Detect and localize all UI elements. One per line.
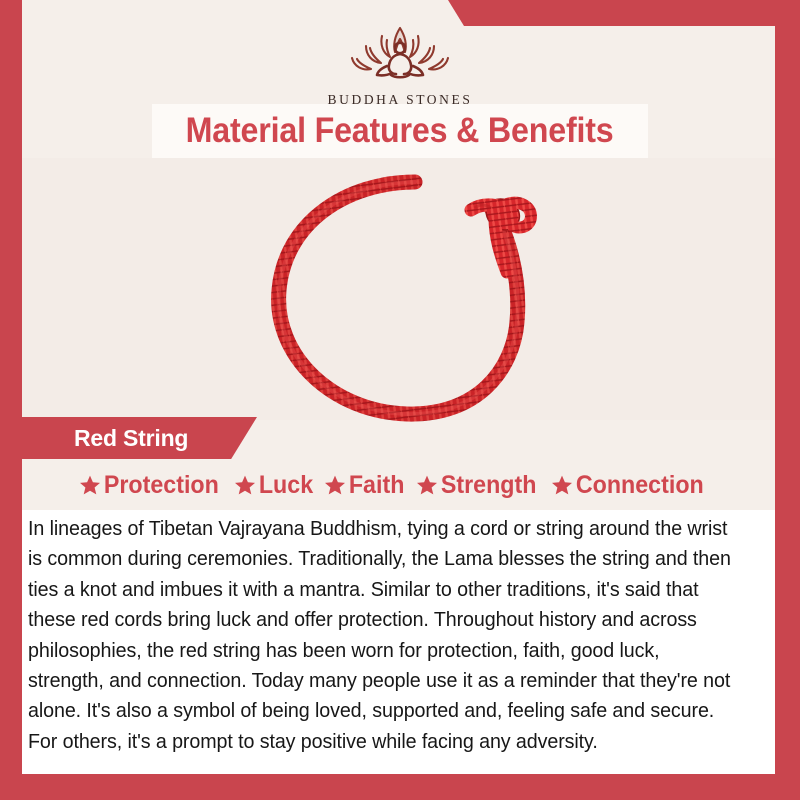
infographic-canvas: BUDDHA STONES Material Features & Benefi…: [0, 0, 800, 800]
brand-logo: BUDDHA STONES: [0, 22, 800, 108]
benefit-label: Faith: [347, 471, 410, 500]
benefit-label: Protection: [102, 471, 224, 500]
benefit-item: Strength: [415, 471, 550, 500]
bottom-red-band: [0, 774, 800, 800]
right-red-band: [775, 0, 800, 800]
lotus-meditation-figure-icon: [325, 22, 475, 88]
product-name-label: Red String: [22, 425, 188, 452]
benefits-row: Protection Luck Faith Strength Connectio: [22, 464, 775, 506]
benefit-item: Protection: [78, 471, 234, 500]
description-panel: In lineages of Tibetan Vajrayana Buddhis…: [22, 510, 775, 774]
page-title: Material Features & Benefits: [186, 111, 614, 151]
title-banner: Material Features & Benefits: [152, 104, 648, 158]
benefit-item: Connection: [550, 471, 720, 500]
product-image-red-string-bracelet: [255, 160, 575, 440]
left-red-band: [0, 0, 22, 800]
benefit-label: Strength: [439, 471, 542, 500]
benefit-item: Faith: [323, 471, 415, 500]
star-icon: [415, 473, 439, 497]
star-icon: [550, 473, 574, 497]
product-name-ribbon: Red String: [22, 417, 257, 459]
star-icon: [233, 473, 257, 497]
description-text: In lineages of Tibetan Vajrayana Buddhis…: [28, 514, 737, 757]
benefit-label: Connection: [574, 471, 709, 500]
star-icon: [323, 473, 347, 497]
star-icon: [78, 473, 102, 497]
benefit-label: Luck: [257, 471, 319, 500]
benefit-item: Luck: [233, 471, 323, 500]
